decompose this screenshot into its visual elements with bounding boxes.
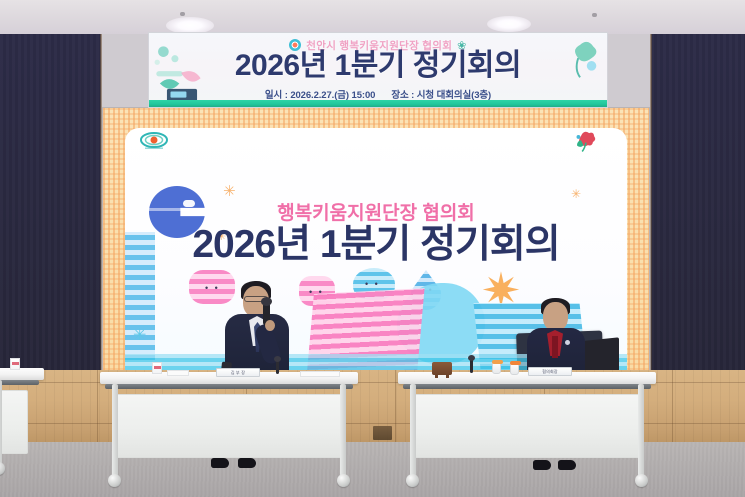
- hand: [265, 320, 275, 331]
- table-modesty-panel: [116, 394, 342, 458]
- slide-title: 2026년 1분기 정기회의: [125, 224, 627, 266]
- necktie: [552, 336, 558, 358]
- slide-content-card: ✳ ✳ ✳ ✳ • • • • • • • • ✷ 행복키움지원단장 협의회 2…: [125, 128, 627, 370]
- banner-info-row: 일시 : 2026.2.27.(금) 15:00장소 : 시청 대회의실(3층): [149, 87, 607, 101]
- wall-vent-icon: [373, 426, 392, 440]
- ceiling: [0, 0, 745, 34]
- nameplate-left: 김 부 장: [216, 368, 260, 377]
- table-leg: [638, 384, 644, 476]
- wood-panel-seam: [97, 370, 98, 444]
- smiley-face-icon: • •: [205, 284, 220, 293]
- wall-seam: [650, 34, 652, 370]
- table-rail: [0, 380, 39, 385]
- table-modesty-panel: [414, 394, 640, 458]
- snowflake-icon: ✳: [133, 328, 146, 344]
- table-leg: [410, 384, 416, 476]
- conference-room-photo: ✳ ✳ ✳ ✳ • • • • • • • • ✷ 행복키움지원단장 협의회 2…: [0, 0, 745, 497]
- desk-flag-icon: [10, 358, 20, 370]
- banner-title: 2026년 1분기 정기회의: [149, 50, 607, 82]
- cheonan-city-logo-icon: [139, 131, 169, 152]
- wood-panel-seam: [672, 370, 673, 444]
- smiley-face-icon: • •: [365, 280, 380, 289]
- table-top: [0, 368, 44, 380]
- banner-bottom-bar: [149, 100, 607, 107]
- wall-panel-right: [651, 34, 745, 370]
- wood-panel-seam: [395, 370, 396, 444]
- table-leg: [112, 384, 118, 476]
- wall-panel-left: [0, 34, 101, 370]
- flower-icon: [573, 130, 599, 154]
- document-sheet: [300, 371, 340, 377]
- cup-lid: [510, 361, 521, 365]
- sprinkler-icon: [180, 12, 185, 16]
- conference-table-left: [100, 372, 358, 490]
- paper-cup-icon: [492, 362, 501, 374]
- table-leg: [0, 380, 2, 464]
- slide-subtitle: 행복키움지원단장 협의회: [125, 198, 627, 225]
- sparkle-icon: ✳: [223, 184, 236, 199]
- desk-flag-icon: [152, 362, 162, 374]
- table-modesty-panel: [0, 390, 28, 454]
- table-caster: [406, 474, 419, 487]
- ceiling-downlight-icon: [487, 16, 531, 32]
- table-caster: [635, 474, 648, 487]
- table-rail: [403, 384, 651, 389]
- table-leg: [340, 384, 346, 476]
- person-seated-official: [527, 296, 622, 370]
- event-banner: 천안시 행복키움지원단장 협의회❀ 2026년 1분기 정기회의 일시 : 20…: [148, 32, 608, 108]
- document-sheet: [167, 370, 189, 376]
- table-rail: [105, 384, 353, 389]
- conference-table-right: [398, 372, 656, 490]
- desk-microphone-icon: [470, 359, 473, 373]
- paper-cup-icon: [510, 363, 519, 375]
- wooden-block-object: [432, 362, 452, 375]
- nameplate-right: 협의회장: [528, 367, 572, 376]
- sprinkler-icon: [592, 13, 597, 17]
- projection-screen: ✳ ✳ ✳ ✳ • • • • • • • • ✷ 행복키움지원단장 협의회 2…: [103, 108, 649, 370]
- person-standing-speaker: [225, 276, 295, 370]
- head: [543, 302, 568, 331]
- cup-lid: [492, 360, 503, 364]
- table-caster: [108, 474, 121, 487]
- table-caster: [337, 474, 350, 487]
- wall-seam: [100, 34, 102, 370]
- desk-microphone-icon: [276, 360, 279, 374]
- lapel-badge-icon: [565, 340, 570, 345]
